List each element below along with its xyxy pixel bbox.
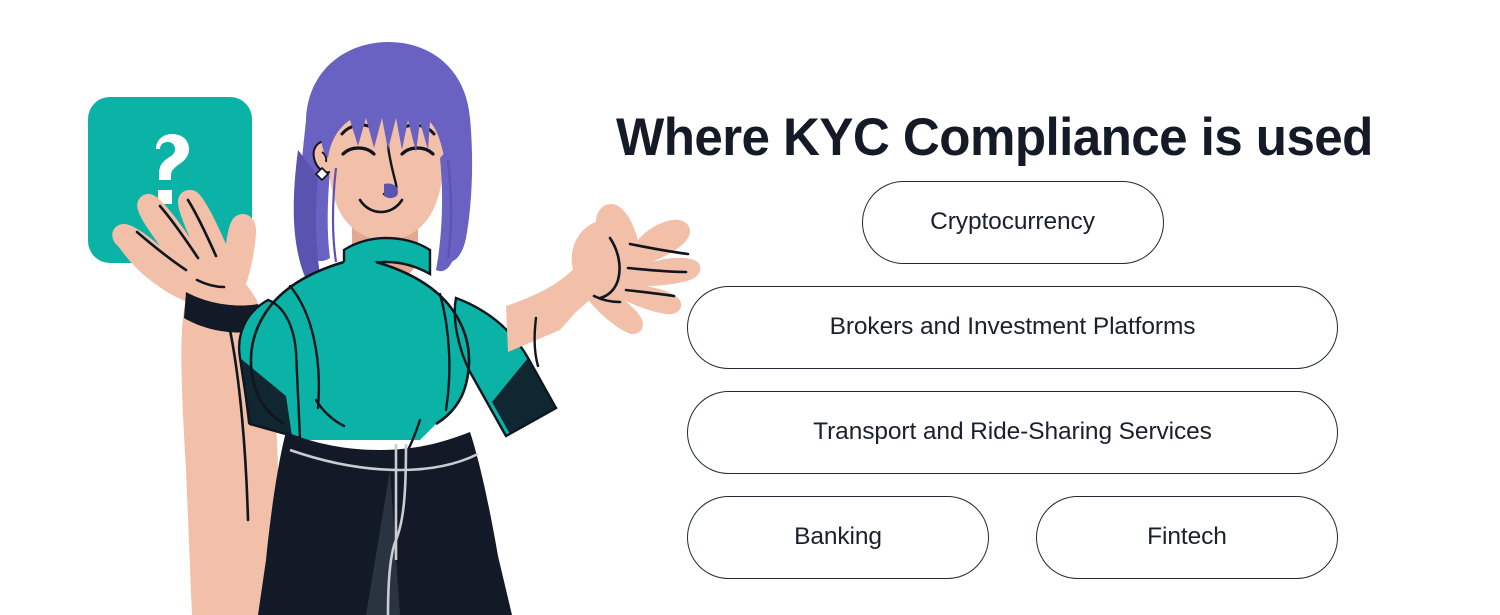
kyc-compliance-infographic: Where KYC Compliance is used Cryptocurre… [0, 0, 1500, 615]
pill-brokers-and-investment-platforms[interactable]: Brokers and Investment Platforms [687, 286, 1338, 369]
pill-banking[interactable]: Banking [687, 496, 989, 579]
pill-transport-and-ride-sharing-services[interactable]: Transport and Ride-Sharing Services [687, 391, 1338, 474]
page-title: Where KYC Compliance is used [616, 110, 1388, 166]
illustration-woman-holding-question-card [0, 0, 720, 615]
pill-row-4: Banking Fintech [687, 496, 1338, 579]
trousers [258, 432, 512, 615]
pill-fintech[interactable]: Fintech [1036, 496, 1338, 579]
pill-cryptocurrency[interactable]: Cryptocurrency [862, 181, 1164, 264]
usage-pill-list: Cryptocurrency Brokers and Investment Pl… [687, 181, 1338, 601]
pill-row-1: Cryptocurrency [687, 181, 1338, 264]
pill-row-3: Transport and Ride-Sharing Services [687, 391, 1338, 474]
content-column: Where KYC Compliance is used Cryptocurre… [616, 0, 1416, 615]
pill-row-2: Brokers and Investment Platforms [687, 286, 1338, 369]
